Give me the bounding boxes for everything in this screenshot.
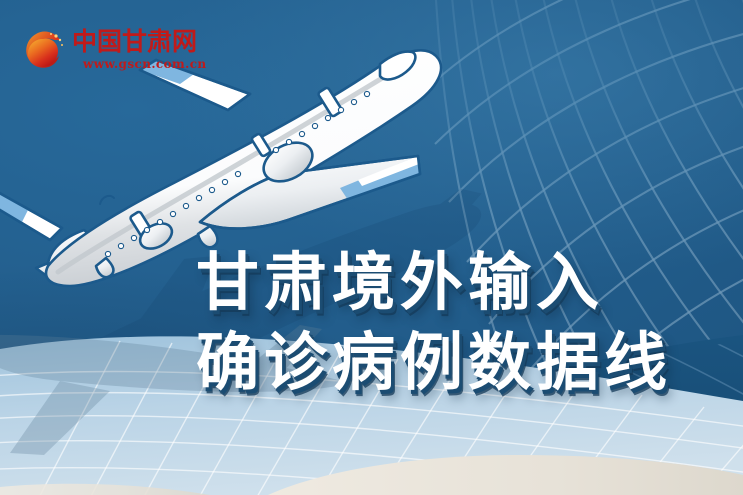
brand-name-cn: 中国甘肃网 bbox=[72, 26, 224, 56]
site-logo[interactable]: 中国甘肃网 www.gscn.com.cn bbox=[22, 26, 224, 71]
headline-line-1: 甘肃境外输入 bbox=[196, 243, 672, 323]
poster-canvas: 中国甘肃网 www.gscn.com.cn 甘肃境外输入 确诊病例数据线 bbox=[0, 0, 743, 495]
brand-url-text: www.gscn.com.cn bbox=[82, 57, 207, 71]
brand-url: www.gscn.com.cn bbox=[82, 57, 224, 71]
gscn-swirl-logo-icon bbox=[22, 27, 66, 71]
headline-block: 甘肃境外输入 确诊病例数据线 bbox=[196, 243, 672, 403]
headline-line-2: 确诊病例数据线 bbox=[196, 323, 672, 403]
brand-name-text: 中国甘肃网 bbox=[72, 27, 197, 56]
logo-text-block: 中国甘肃网 www.gscn.com.cn bbox=[72, 26, 224, 71]
